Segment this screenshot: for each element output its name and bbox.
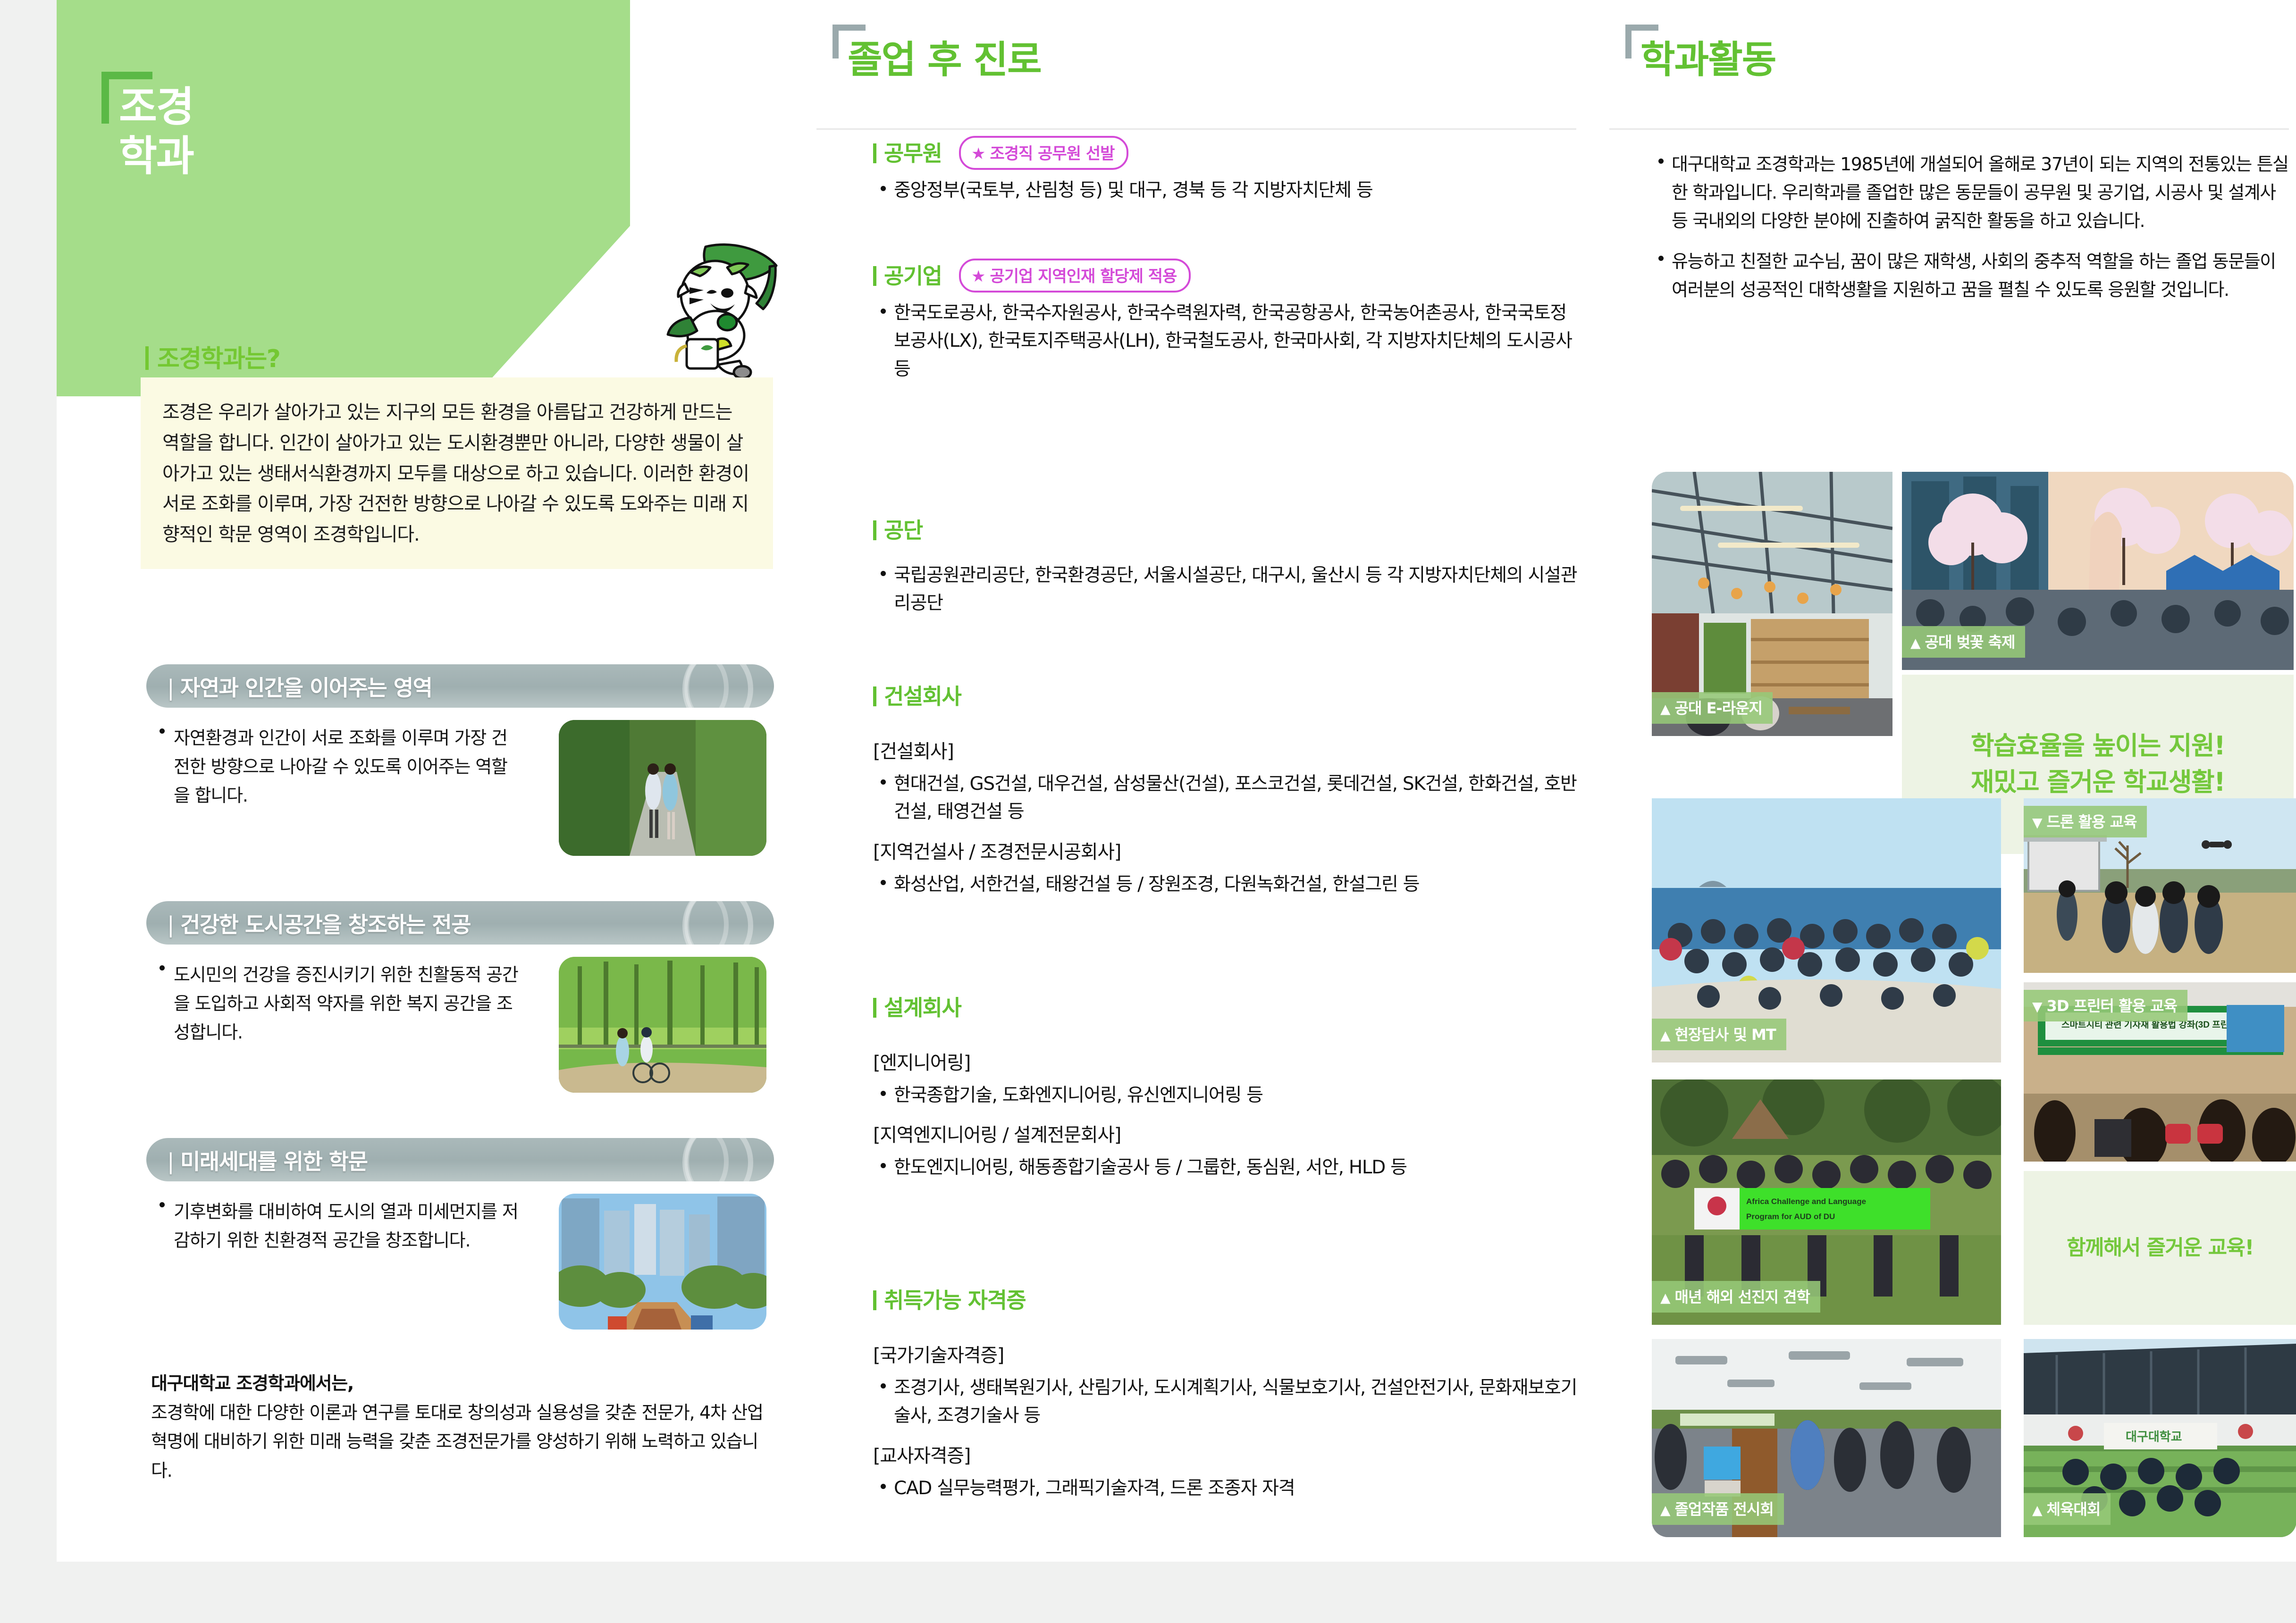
photo-caption: ▲공대 벚꽃 축제 <box>1902 626 2025 658</box>
feature-card-2-text: 도시민의 건강을 증진시키기 위한 친활동적 공간을 도입하고 사회적 약자를 … <box>174 961 523 1046</box>
promo-line-1: 학습효율을 높이는 지원! <box>1971 728 2225 764</box>
svg-text:Africa Challenge and Language: Africa Challenge and Language <box>1746 1197 1866 1206</box>
career-heading: 졸업 후 진로 <box>848 29 1041 84</box>
department-title: 조경 학과 <box>119 83 193 181</box>
career-section-title: 설계회사 <box>873 991 1581 1022</box>
triangle-up-icon: ▲ <box>1660 701 1670 717</box>
divider <box>816 128 1576 130</box>
feature-card-3: |미래세대를 위한 학문 기후변화를 대비하여 도시의 열과 미세먼지를 저감하… <box>146 1138 774 1339</box>
divider <box>1609 128 2289 130</box>
svg-text:Program for AUD of DU: Program for AUD of DU <box>1746 1212 1835 1221</box>
sports-day-photo: 대구대학교 ▲체육대회 <box>2024 1339 2296 1537</box>
star-icon: ★ <box>971 267 985 286</box>
feature-card-1-header: |자연과 인간을 이어주는 영역 <box>146 664 774 708</box>
photo-caption: ▲체육대회 <box>2024 1493 2111 1525</box>
status-badge: ★공기업 지역인재 할당제 적용 <box>959 259 1191 293</box>
bullet-dot-icon <box>160 965 165 970</box>
hedge-garden-couple-photo <box>559 720 766 856</box>
star-icon: ★ <box>971 144 985 163</box>
3d-printer-training-photo: 스마트시티 관련 기자재 활용법 강좌(3D 프린터 교육) ▼3D 프린터 활… <box>2024 982 2296 1162</box>
triangle-up-icon: ▲ <box>1660 1028 1670 1043</box>
overseas-study-tour-photo: Africa Challenge and Language Program fo… <box>1652 1079 2001 1325</box>
photo-caption: ▲매년 해외 선진지 견학 <box>1652 1281 1820 1313</box>
photo-caption: ▲졸업작품 전시회 <box>1652 1493 1784 1525</box>
feature-card-2: |건강한 도시공간을 창조하는 전공 도시민의 건강을 증진시키기 위한 친활동… <box>146 901 774 1102</box>
career-section-certifications: 취득가능 자격증 [국가기술자격증] 조경기사, 생태복원기사, 산림기사, 도… <box>873 1283 1581 1502</box>
department-banner <box>57 0 630 396</box>
feature-card-3-header: |미래세대를 위한 학문 <box>146 1138 774 1181</box>
bullet-dot-icon <box>160 728 165 734</box>
career-section-gongdan: 공단 국립공원관리공단, 한국환경공단, 서울시설공단, 대구시, 울산시 등 … <box>873 513 1581 618</box>
feature-card-1: |자연과 인간을 이어주는 영역 자연환경과 인간이 서로 조화를 이루며 가장… <box>146 664 774 865</box>
closing-lead: 대구대학교 조경학과에서는, <box>151 1369 779 1398</box>
group-label: [국가기술자격증] <box>873 1340 1581 1367</box>
activity-column: 학과활동 <box>1614 0 2289 142</box>
urban-green-street-photo <box>559 1194 766 1330</box>
promo-line-2: 재밌고 즐거운 학교생활! <box>1971 764 2225 801</box>
accent-bar-icon <box>873 266 876 286</box>
svg-text:대구대학교: 대구대학교 <box>2126 1430 2182 1444</box>
career-section-title: 취득가능 자격증 <box>873 1283 1581 1314</box>
accent-bar-icon <box>873 143 876 163</box>
triangle-up-icon: ▲ <box>2032 1502 2042 1518</box>
intro-body: 조경은 우리가 살아가고 있는 지구의 모든 환경을 아름답고 건강하게 만드는… <box>141 377 773 569</box>
career-column: 졸업 후 진로 <box>821 0 1576 142</box>
field-trip-mt-photo: ▲현장답사 및 MT <box>1652 798 2001 1062</box>
bullet-dot-icon <box>160 1202 165 1207</box>
accent-bar-icon <box>873 1290 876 1310</box>
list-item: 한국도로공사, 한국수자원공사, 한국수력원자력, 한국공항공사, 한국농어촌공… <box>873 299 1581 383</box>
promo-banner-2: 함께해서 즐거운 교육! <box>2024 1171 2296 1325</box>
activity-paragraphs: 대구대학교 조경학과는 1985년에 개설되어 올해로 37년이 되는 지역의 … <box>1652 150 2294 316</box>
career-section-gongmuwon: 공무원 ★조경직 공무원 선발 중앙정부(국토부, 산림청 등) 및 대구, 경… <box>873 136 1581 204</box>
group-label: [엔지니어링] <box>873 1047 1581 1075</box>
group-label: [교사자격증] <box>873 1440 1581 1468</box>
triangle-up-icon: ▲ <box>1660 1502 1670 1518</box>
career-section-title: 공기업 ★공기업 지역인재 할당제 적용 <box>873 259 1581 293</box>
brochure-page: 조경 학과 조경 <box>57 0 2296 1562</box>
list-item: 화성산업, 서한건설, 태왕건설 등 / 장원조경, 다원녹화건설, 한설그린 … <box>873 870 1581 898</box>
accent-bar-icon <box>873 998 876 1018</box>
promo-line-1: 함께해서 즐거운 교육! <box>2067 1233 2254 1263</box>
career-section-title: 공단 <box>873 513 1581 544</box>
list-item: CAD 실무능력평가, 그래픽기술자격, 드론 조종자 자격 <box>873 1474 1581 1502</box>
status-badge: ★조경직 공무원 선발 <box>959 136 1128 170</box>
feature-card-1-text: 자연환경과 인간이 서로 조화를 이루며 가장 건전한 방향으로 나아갈 수 있… <box>174 724 523 810</box>
triangle-down-icon: ▼ <box>2032 999 2042 1014</box>
list-item: 국립공원관리공단, 한국환경공단, 서울시설공단, 대구시, 울산시 등 각 지… <box>873 561 1581 618</box>
activity-heading: 학과활동 <box>1640 29 1775 84</box>
list-item: 중앙정부(국토부, 산림청 등) 및 대구, 경북 등 각 지방자치단체 등 <box>873 176 1581 204</box>
career-section-construction: 건설회사 [건설회사] 현대건설, GS건설, 대우건설, 삼성물산(건설), … <box>873 679 1581 898</box>
list-item: 현대건설, GS건설, 대우건설, 삼성물산(건설), 포스코건설, 롯데건설,… <box>873 770 1581 826</box>
closing-body: 조경학에 대한 다양한 이론과 연구를 토대로 창의성과 실용성을 갖춘 전문가… <box>151 1402 763 1481</box>
feature-card-2-header: |건강한 도시공간을 창조하는 전공 <box>146 901 774 945</box>
drone-training-photo: ▼드론 활용 교육 <box>2024 798 2296 973</box>
photo-caption: ▼3D 프린터 활용 교육 <box>2024 990 2187 1021</box>
triangle-down-icon: ▼ <box>2032 815 2042 830</box>
department-title-line1: 조경 <box>119 83 193 132</box>
career-section-title: 공무원 ★조경직 공무원 선발 <box>873 136 1581 170</box>
closing-paragraph: 대구대학교 조경학과에서는, 조경학에 대한 다양한 이론과 연구를 토대로 창… <box>151 1369 779 1485</box>
graduation-exhibition-photo: ▲졸업작품 전시회 <box>1652 1339 2001 1537</box>
triangle-up-icon: ▲ <box>1660 1290 1670 1305</box>
career-section-design: 설계회사 [엔지니어링] 한국종합기술, 도화엔지니어링, 유신엔지니어링 등 … <box>873 991 1581 1182</box>
career-heading-block: 졸업 후 진로 <box>821 0 1576 142</box>
activity-heading-block: 학과활동 <box>1614 0 2289 142</box>
list-item: 유능하고 친절한 교수님, 꿈이 많은 재학생, 사회의 중추적 역할을 하는 … <box>1652 247 2294 304</box>
list-item: 대구대학교 조경학과는 1985년에 개설되어 올해로 37년이 되는 지역의 … <box>1652 150 2294 235</box>
group-label: [건설회사] <box>873 736 1581 763</box>
list-item: 한국종합기술, 도화엔지니어링, 유신엔지니어링 등 <box>873 1081 1581 1109</box>
photo-caption: ▼드론 활용 교육 <box>2024 806 2147 837</box>
accent-bar-icon <box>873 686 876 706</box>
photo-caption: ▲현장답사 및 MT <box>1652 1019 1786 1050</box>
career-section-title: 건설회사 <box>873 679 1581 711</box>
group-label: [지역건설사 / 조경전문시공회사] <box>873 837 1581 864</box>
list-item: 한도엔지니어링, 해동종합기술공사 등 / 그룹한, 동심원, 서안, HLD … <box>873 1154 1581 1181</box>
e-lounge-photo: ▲공대 E-라운지 <box>1652 472 1892 736</box>
feature-card-3-text: 기후변화를 대비하여 도시의 열과 미세먼지를 저감하기 위한 친환경적 공간을… <box>174 1197 523 1255</box>
career-section-gonggieop: 공기업 ★공기업 지역인재 할당제 적용 한국도로공사, 한국수자원공사, 한국… <box>873 259 1581 383</box>
photo-caption: ▲공대 E-라운지 <box>1652 692 1773 724</box>
cherry-blossom-festival-photo: ▲공대 벚꽃 축제 <box>1902 472 2294 670</box>
accent-bar-icon <box>145 346 149 370</box>
list-item: 조경기사, 생태복원기사, 산림기사, 도시계획기사, 식물보호기사, 건설안전… <box>873 1374 1581 1430</box>
park-forest-cycling-photo <box>559 957 766 1093</box>
triangle-up-icon: ▲ <box>1910 635 1920 651</box>
group-label: [지역엔지니어링 / 설계전문회사] <box>873 1120 1581 1147</box>
intro-heading: 조경학과는? <box>145 339 280 374</box>
department-title-line2: 학과 <box>119 132 193 181</box>
accent-bar-icon <box>873 520 876 540</box>
